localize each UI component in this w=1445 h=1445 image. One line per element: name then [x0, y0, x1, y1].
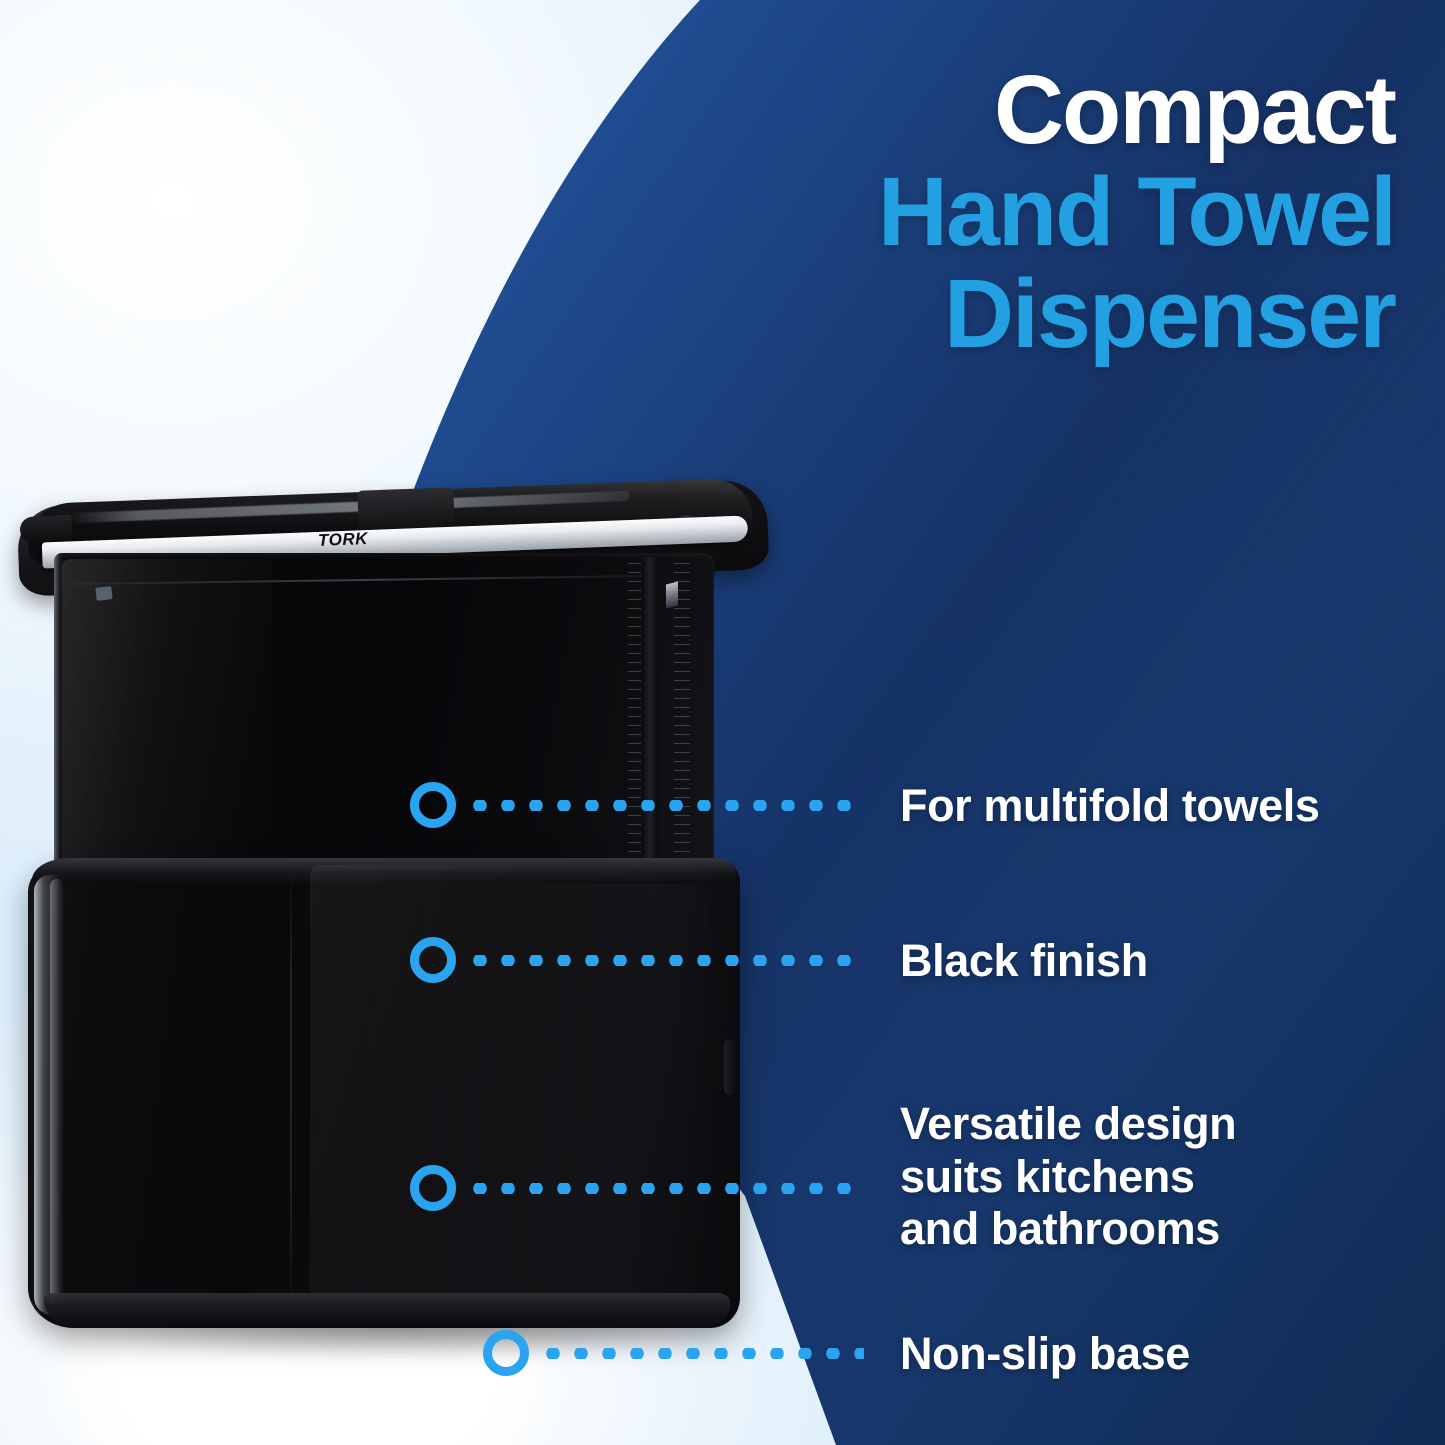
dispenser-vertical-seam	[290, 865, 292, 1317]
product-infographic: Compact Hand Towel Dispenser TORK	[0, 0, 1445, 1445]
callout-marker-ring-2	[410, 937, 456, 983]
dispenser-side-notch	[724, 1039, 737, 1095]
title-line-3: Dispenser	[735, 266, 1395, 362]
callout-label-black-finish: Black finish	[900, 935, 1420, 988]
dispenser-rib-left	[628, 557, 641, 879]
dispenser-lid-left-tab	[19, 515, 72, 544]
callout-leader-dots-2	[466, 955, 864, 966]
title-line-2: Hand Towel	[735, 164, 1395, 260]
callout-leader-dots-4	[539, 1348, 864, 1359]
dispenser-left-gloss-inner	[50, 879, 64, 1309]
tork-brand-logo: TORK	[306, 526, 381, 554]
product-image-dispenser: TORK	[10, 483, 785, 1378]
title-block: Compact Hand Towel Dispenser	[735, 62, 1395, 362]
callout-marker-ring-3	[410, 1165, 456, 1211]
callout-leader-dots-1	[466, 800, 864, 811]
dispenser-lower-sheen	[310, 865, 710, 1315]
dispenser-upper-sheen	[62, 559, 272, 877]
dispenser-rib-separator	[642, 557, 658, 879]
callout-marker-ring-4	[483, 1330, 529, 1376]
dispenser-upper-left-edge	[54, 555, 63, 881]
callout-label-multifold: For multifold towels	[900, 780, 1420, 833]
callout-marker-ring-1	[410, 782, 456, 828]
callout-label-non-slip: Non-slip base	[900, 1328, 1420, 1381]
callout-label-versatile: Versatile design suits kitchens and bath…	[900, 1098, 1420, 1256]
dispenser-lid-notch	[357, 487, 454, 530]
callout-leader-dots-3	[466, 1183, 864, 1194]
dispenser-rib-highlight	[666, 582, 678, 609]
dispenser-upper-chip	[95, 586, 112, 601]
title-line-1: Compact	[735, 62, 1395, 158]
